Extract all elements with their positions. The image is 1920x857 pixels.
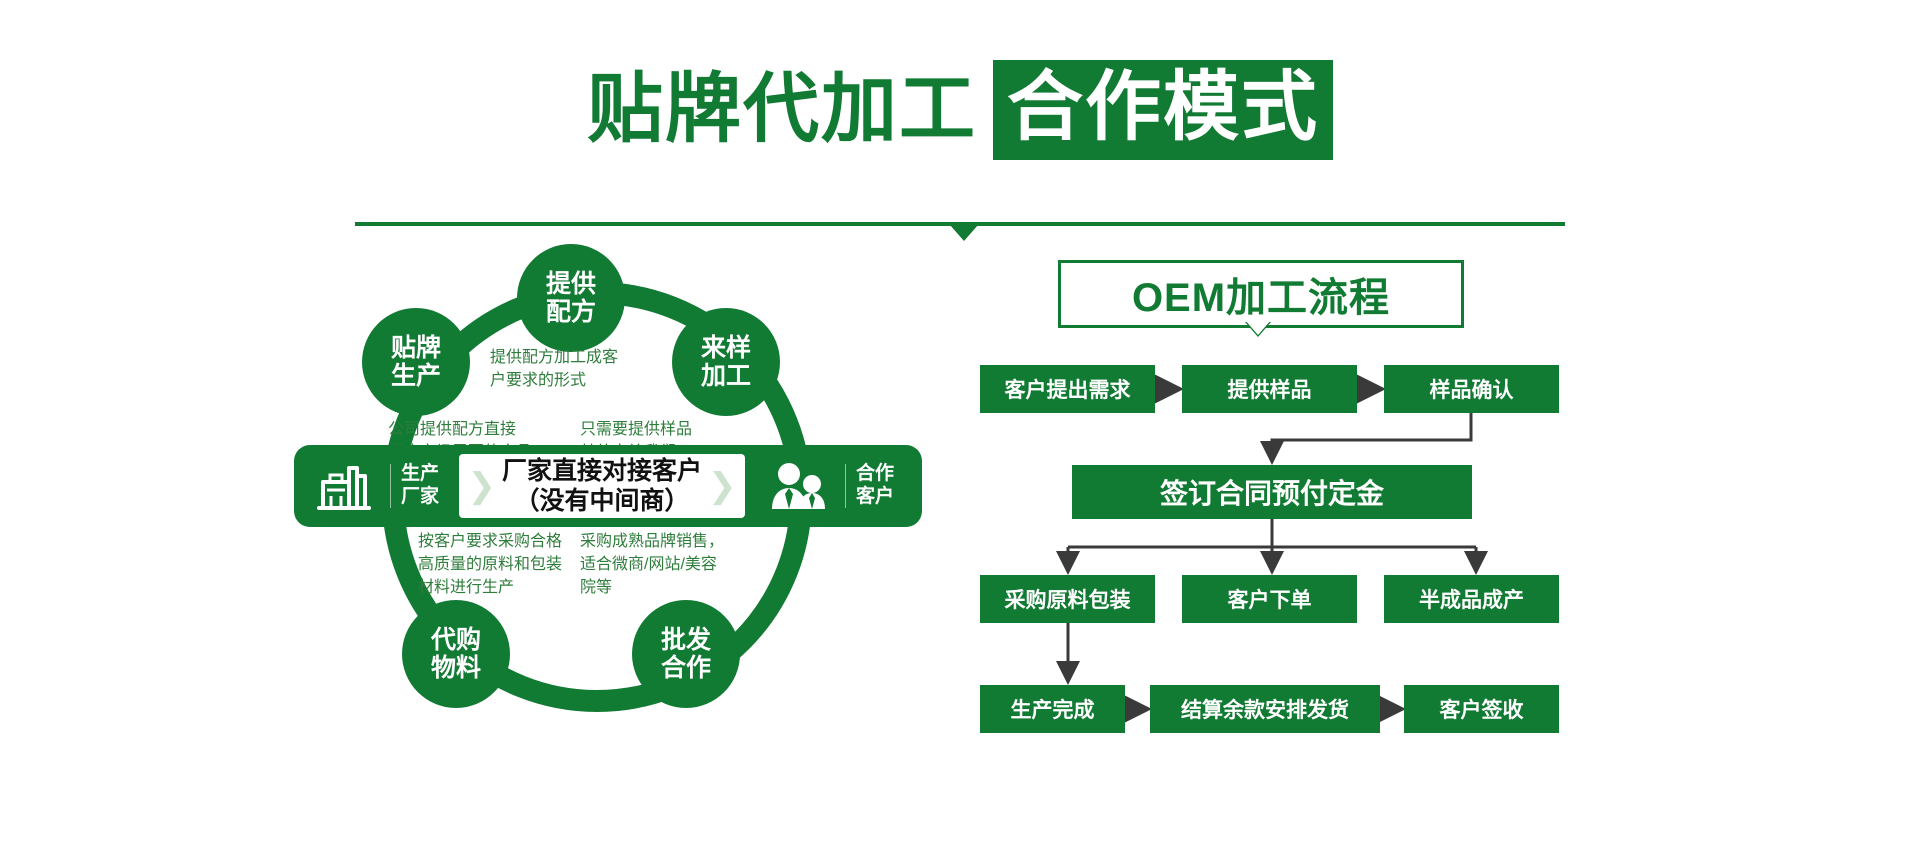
page-title-plain: 贴牌代加工 — [587, 72, 993, 148]
oem-flowchart: OEM加工流程 客户提出需求 — [980, 250, 1600, 810]
center-bar-right-group: 合作 客户 — [749, 461, 922, 511]
flow-step-provide-sample[interactable]: 提供样品 — [1182, 365, 1357, 413]
people-icon — [749, 461, 835, 511]
flow-step-production-done[interactable]: 生产完成 — [980, 685, 1125, 733]
flow-step-customer-receipt[interactable]: 客户签收 — [1404, 685, 1559, 733]
factory-divider — [390, 464, 391, 508]
cycle-node-top-right-label: 来样 加工 — [701, 334, 751, 390]
cycle-desc-top: 提供配方加工成客 户要求的形式 — [490, 346, 700, 392]
flow-step-purchase-materials[interactable]: 采购原料包装 — [980, 575, 1155, 623]
header-divider — [355, 222, 1565, 244]
flow-step-customer-order[interactable]: 客户下单 — [1182, 575, 1357, 623]
center-relationship-bar: 生产 厂家 ❯ 厂家直接对接客户 （没有中间商） ❯ — [294, 445, 922, 527]
flow-step-semi-finished[interactable]: 半成品成产 — [1384, 575, 1559, 623]
page-header: 贴牌代加工 合作模式 — [0, 60, 1920, 160]
cycle-node-top-label: 提供 配方 — [546, 270, 596, 326]
infographic-canvas: 贴牌代加工 合作模式 提供 配方 贴牌 生产 来样 加工 代购 物料 批发 合作… — [0, 0, 1920, 857]
cycle-node-bottom-left-label: 代购 物料 — [431, 626, 481, 682]
cycle-node-bottom-right[interactable]: 批发 合作 — [632, 600, 740, 708]
cycle-desc-bottom-right: 采购成熟品牌销售， 适合微商/网站/美容 院等 — [580, 530, 780, 600]
center-bar-statement-text: 厂家直接对接客户 （没有中间商） — [502, 456, 702, 516]
center-bar-right-label: 合作 客户 — [856, 463, 910, 509]
cycle-node-top[interactable]: 提供 配方 — [517, 244, 625, 352]
page-title: 贴牌代加工 合作模式 — [587, 60, 1333, 160]
divider-notch-icon — [950, 225, 978, 241]
chevron-right-icon-left: ❯ — [467, 469, 496, 503]
flow-step-customer-request[interactable]: 客户提出需求 — [980, 365, 1155, 413]
center-bar-left-label: 生产 厂家 — [401, 463, 455, 509]
cooperation-cycle-diagram: 提供 配方 贴牌 生产 来样 加工 代购 物料 批发 合作 提供配方加工成客 户… — [330, 250, 890, 810]
cycle-node-top-left-label: 贴牌 生产 — [391, 334, 441, 390]
flow-step-settle-shipping[interactable]: 结算余款安排发货 — [1150, 685, 1380, 733]
center-bar-statement: ❯ 厂家直接对接客户 （没有中间商） ❯ — [459, 454, 745, 518]
cycle-node-top-left[interactable]: 贴牌 生产 — [362, 308, 470, 416]
page-title-highlight: 合作模式 — [993, 60, 1333, 160]
people-divider — [845, 464, 846, 508]
factory-icon — [294, 460, 380, 512]
flowchart-title-notch-inner-icon — [1245, 320, 1271, 335]
flow-step-sample-confirm[interactable]: 样品确认 — [1384, 365, 1559, 413]
flowchart-title: OEM加工流程 — [1058, 260, 1464, 328]
cycle-node-bottom-right-label: 批发 合作 — [661, 626, 711, 682]
flow-step-sign-contract[interactable]: 签订合同预付定金 — [1072, 465, 1472, 519]
chevron-right-icon-right: ❯ — [708, 469, 737, 503]
cycle-node-bottom-left[interactable]: 代购 物料 — [402, 600, 510, 708]
